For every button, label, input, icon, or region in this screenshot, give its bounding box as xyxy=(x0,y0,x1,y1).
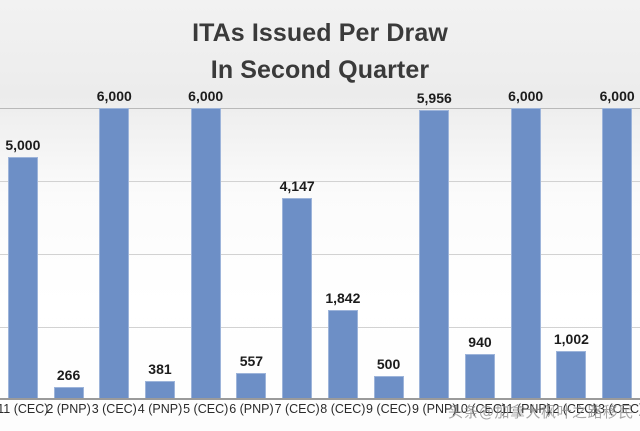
plot-area: 5,0002666,0003816,0005574,1471,8425005,9… xyxy=(0,108,640,400)
x-axis-tick-label: 3 (CEC) xyxy=(92,402,137,416)
x-axis-tick-label: 12 (CEC) xyxy=(545,402,597,416)
bar-slot: 500 xyxy=(366,108,412,400)
x-axis-labels: 11 (CEC)2 (PNP)3 (CEC)4 (PNP)5 (CEC)6 (P… xyxy=(0,402,640,431)
bar-slot: 6,000 xyxy=(503,108,549,400)
chart-title-line-1: ITAs Issued Per Draw xyxy=(0,16,640,50)
bar-value-label: 6,000 xyxy=(600,88,635,104)
bar-slot: 5,000 xyxy=(0,108,46,400)
bar-value-label: 4,147 xyxy=(280,178,315,194)
x-axis-tick-label: 8 (CEC) xyxy=(320,402,365,416)
bar-slot: 381 xyxy=(137,108,183,400)
bar-slot: 940 xyxy=(457,108,503,400)
bar-value-label: 6,000 xyxy=(97,88,132,104)
bar-value-label: 1,002 xyxy=(554,331,589,347)
x-axis-tick-label: 7 (CEC) xyxy=(275,402,320,416)
x-axis-tick-label: 5 (CEC) xyxy=(183,402,228,416)
bar-slot: 266 xyxy=(46,108,92,400)
chart-title: ITAs Issued Per Draw In Second Quarter xyxy=(0,16,640,87)
bar-value-label: 5,000 xyxy=(5,137,40,153)
x-axis-line xyxy=(0,398,640,400)
bar-value-label: 266 xyxy=(57,367,80,383)
bar[interactable] xyxy=(511,108,541,400)
bar-value-label: 500 xyxy=(377,356,400,372)
bar-slot: 5,956 xyxy=(411,108,457,400)
bar-value-label: 940 xyxy=(468,334,491,350)
chart-title-line-2: In Second Quarter xyxy=(0,53,640,87)
bar[interactable] xyxy=(99,108,129,400)
bar-value-label: 6,000 xyxy=(188,88,223,104)
bar[interactable] xyxy=(465,354,495,400)
x-axis-tick-label: 11 (CEC) xyxy=(0,402,48,416)
bar[interactable] xyxy=(328,310,358,400)
bar[interactable] xyxy=(374,376,404,400)
bars-layer: 5,0002666,0003816,0005574,1471,8425005,9… xyxy=(0,108,640,400)
bar-slot: 6,000 xyxy=(91,108,137,400)
bar-slot: 557 xyxy=(229,108,275,400)
x-axis-tick-label: 10 (CEC) xyxy=(454,402,506,416)
chart-container: ITAs Issued Per Draw In Second Quarter 5… xyxy=(0,0,640,431)
bar-value-label: 381 xyxy=(148,361,171,377)
bar-value-label: 5,956 xyxy=(417,90,452,106)
bar-value-label: 1,842 xyxy=(325,290,360,306)
bar-value-label: 557 xyxy=(240,353,263,369)
x-axis-tick-label: 9 (PNP) xyxy=(412,402,456,416)
x-axis-tick-label: 4 (PNP) xyxy=(138,402,182,416)
x-axis-tick-label: 2 (PNP) xyxy=(46,402,90,416)
bar[interactable] xyxy=(419,110,449,400)
x-axis-tick-label: 6 (PNP) xyxy=(229,402,273,416)
bar[interactable] xyxy=(8,157,38,400)
x-axis-tick-label: 11 (PNP) xyxy=(500,402,550,416)
bar-slot: 1,842 xyxy=(320,108,366,400)
x-axis-tick-label: 9 (CEC) xyxy=(366,402,411,416)
bar-slot: 1,002 xyxy=(549,108,595,400)
bar-value-label: 6,000 xyxy=(508,88,543,104)
bar[interactable] xyxy=(282,198,312,400)
x-axis-tick-label: 13 (CEC) xyxy=(591,402,640,416)
bar[interactable] xyxy=(556,351,586,400)
bar-slot: 6,000 xyxy=(183,108,229,400)
bar-slot: 6,000 xyxy=(594,108,640,400)
bar[interactable] xyxy=(191,108,221,400)
bar-slot: 4,147 xyxy=(274,108,320,400)
bar[interactable] xyxy=(236,373,266,400)
bar[interactable] xyxy=(602,108,632,400)
